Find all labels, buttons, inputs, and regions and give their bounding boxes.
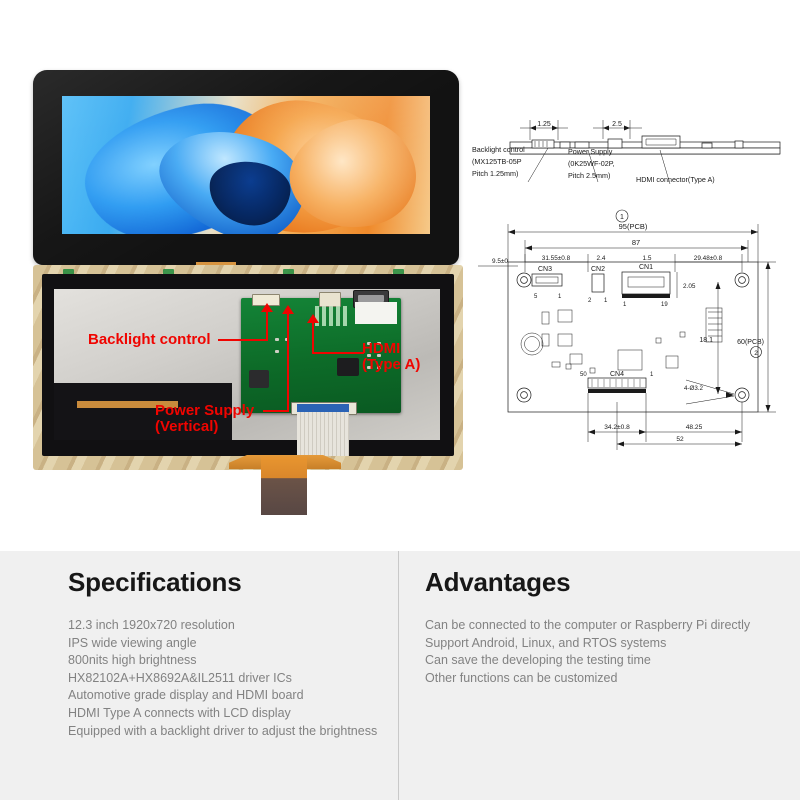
annotation-backlight-control: Backlight control	[88, 332, 211, 348]
list-item: Can save the developing the testing time	[425, 652, 770, 670]
dim-edge-left: 9.5±0	[492, 258, 508, 265]
cad-svg: 1.25 2.5	[470, 112, 790, 512]
dim-2-05: 2.05	[683, 283, 696, 290]
lcd-fpc-tail	[261, 457, 307, 515]
dim-87: 87	[632, 238, 640, 247]
label-power-connector-l3: Pitch 2.5mm)	[568, 171, 610, 180]
annotation-power-line1: Power Supply	[155, 403, 254, 419]
pin-cn1-start: 1	[623, 302, 627, 308]
list-item: Automotive grade display and HDMI board	[68, 687, 388, 705]
dim-52: 18.1	[699, 337, 713, 344]
dim-cn4-width: 34.2±0.8	[604, 424, 630, 431]
ffc-ribbon-cable	[297, 410, 349, 456]
list-item: 12.3 inch 1920x720 resolution	[68, 617, 388, 635]
label-power-connector-l1: Power Supply	[568, 147, 613, 156]
column-divider	[398, 551, 399, 800]
connector-cn2	[592, 274, 604, 292]
pcb-components	[521, 308, 722, 373]
list-item: HDMI Type A connects with LCD display	[68, 705, 388, 723]
leader-line-backlight-up	[266, 311, 268, 341]
pin-cn4-end: 1	[650, 372, 654, 378]
leader-line-backlight	[218, 339, 268, 341]
pin-cn4-start: 50	[580, 372, 587, 378]
pin-cn3-start: 5	[534, 294, 538, 300]
leader-line-hdmi	[312, 352, 364, 354]
advantages-title: Advantages	[425, 551, 770, 598]
lcd-front-photo	[33, 70, 459, 265]
label-cn1: CN1	[639, 264, 653, 271]
label-cn2: CN2	[591, 266, 605, 273]
annotation-power-line2: (Vertical)	[155, 419, 254, 435]
dim-pitch-25: 2.5	[612, 121, 622, 128]
dim-pitch-125: 1.25	[537, 121, 551, 128]
board-silkscreen-logo	[315, 306, 349, 326]
list-item: 800nits high brightness	[68, 652, 388, 670]
arrow-power	[282, 305, 294, 314]
callout-2: 2	[754, 350, 758, 357]
pin-cn2-start: 2	[588, 298, 592, 304]
power-connector	[319, 292, 341, 307]
label-cn3: CN3	[538, 266, 552, 273]
label-backlight-connector-l2: (MX125TB-05P	[472, 157, 522, 166]
dim-cn1-small: 1.5	[643, 255, 652, 262]
dim-cn4-right: 48.25	[686, 424, 703, 431]
label-cn4: CN4	[610, 371, 624, 378]
specifications-column: Specifications 12.3 inch 1920x720 resolu…	[68, 551, 388, 740]
leader-line-power	[263, 410, 289, 412]
annotation-hdmi-line1: HDMI	[362, 341, 420, 357]
label-backlight-connector-l1: Backlight control	[472, 145, 525, 154]
dim-cn1-offset: 29.48±0.8	[694, 255, 723, 262]
product-spec-sheet: Backlight control HDMI (Type A) Power Su…	[0, 0, 800, 800]
list-item: Support Android, Linux, and RTOS systems	[425, 635, 770, 653]
glass-reflection	[33, 70, 459, 265]
pin-cn1-end: 19	[661, 302, 668, 308]
main-ic	[337, 358, 359, 376]
list-item: IPS wide viewing angle	[68, 635, 388, 653]
label-hdmi-connector: HDMI connector(Type A)	[636, 175, 715, 184]
specifications-title: Specifications	[68, 551, 388, 598]
leader-line-power-up	[287, 313, 289, 411]
label-power-connector-l2: (0K25WF-02P,	[568, 159, 615, 168]
label-backlight-connector-l3: Pitch 1.25mm)	[472, 169, 518, 178]
pcb-plan-view: 1 95(PCB)	[478, 210, 776, 450]
advantages-list: Can be connected to the computer or Rasp…	[425, 617, 770, 687]
info-panel: Specifications 12.3 inch 1920x720 resolu…	[0, 551, 800, 800]
arrow-hdmi	[307, 314, 319, 323]
specifications-list: 12.3 inch 1920x720 resolution IPS wide v…	[68, 617, 388, 740]
dim-overall-bottom: 52	[676, 436, 684, 443]
callout-1: 1	[620, 214, 624, 221]
annotation-hdmi-line2: (Type A)	[362, 357, 420, 373]
board-label	[355, 302, 397, 324]
dim-pcb-height: 60(PCB)	[737, 339, 764, 346]
annotation-power-supply: Power Supply (Vertical)	[155, 403, 254, 435]
cad-drawing-area: 1.25 2.5	[470, 112, 790, 512]
pin-cn2-end: 1	[604, 298, 608, 304]
list-item: Can be connected to the computer or Rasp…	[425, 617, 770, 635]
list-item: Other functions can be customized	[425, 670, 770, 688]
product-photo-area: Backlight control HDMI (Type A) Power Su…	[0, 0, 800, 551]
list-item: Equipped with a backlight driver to adju…	[68, 723, 388, 741]
secondary-ic	[249, 370, 269, 388]
advantages-column: Advantages Can be connected to the compu…	[425, 551, 770, 687]
annotation-hdmi: HDMI (Type A)	[362, 341, 420, 373]
connector-cn3	[532, 274, 562, 286]
connector-cn4	[588, 378, 646, 393]
leader-line-hdmi-up	[312, 322, 314, 353]
list-item: HX82102A+HX8692A&IL2511 driver ICs	[68, 670, 388, 688]
dim-cn3: 31.55±0.8	[542, 255, 571, 262]
dim-cn2: 2.4	[597, 255, 606, 262]
dim-mount-holes: 4-Ø3.2	[684, 385, 703, 392]
dim-pcb-width: 95(PCB)	[619, 222, 648, 231]
pin-cn3-end: 1	[558, 294, 562, 300]
connector-cn1	[622, 272, 670, 298]
arrow-backlight	[261, 303, 273, 312]
